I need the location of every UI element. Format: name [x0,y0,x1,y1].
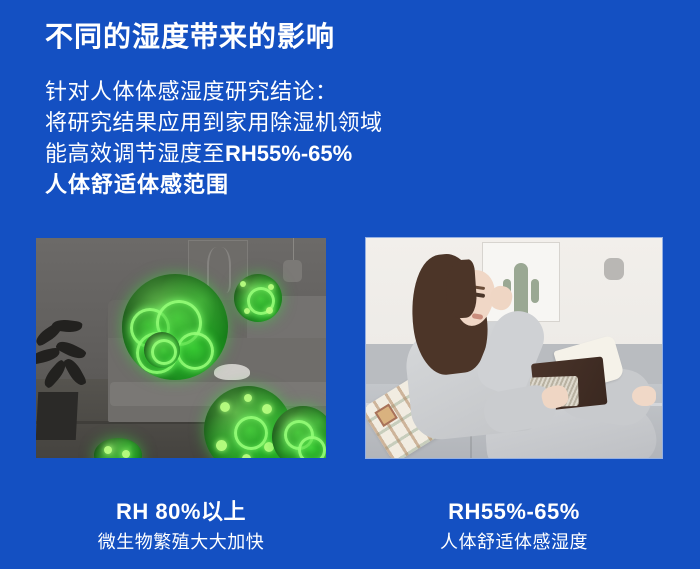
page-title: 不同的湿度带来的影响 [45,18,335,56]
microbe-icon [94,438,142,458]
microbe-icon [272,406,326,458]
caption-left-subtitle: 微生物繁殖大大加快 [36,530,326,554]
body-copy-line-1: 针对人体体感湿度研究结论： [45,76,465,107]
body-copy-line-3-prefix: 能高效调节湿度至 [45,141,225,166]
humidity-comparison-poster: 不同的湿度带来的影响 针对人体体感湿度研究结论： 将研究结果应用到家用除湿机领域… [0,0,700,569]
microbe-icon [144,332,180,368]
bright-room-scene [366,238,662,458]
caption-right-title: RH55%-65% [366,498,662,526]
caption-right-subtitle: 人体舒适体感湿度 [366,530,662,554]
speaker-icon [283,260,302,282]
body-copy-block: 针对人体体感湿度研究结论： 将研究结果应用到家用除湿机领域 能高效调节湿度至RH… [45,76,465,200]
body-copy-line-2: 将研究结果应用到家用除湿机领域 [45,107,465,138]
body-copy-line-4: 人体舒适体感范围 [45,169,465,200]
plant-pot [36,392,78,440]
body-copy-line-3-range: RH55%-65% [225,141,352,166]
plant-icon [36,310,98,400]
photo-panel-right [366,238,662,458]
caption-left: RH 80%以上 微生物繁殖大大加快 [36,498,326,554]
photo-panel-left [36,238,326,458]
body-copy-line-3: 能高效调节湿度至RH55%-65% [45,138,465,169]
dim-room-scene [36,238,326,458]
woman-foot [632,386,656,406]
microbe-icon [234,274,282,322]
caption-left-title: RH 80%以上 [36,498,326,526]
caption-right: RH55%-65% 人体舒适体感湿度 [366,498,662,554]
woman-reading [366,238,662,458]
